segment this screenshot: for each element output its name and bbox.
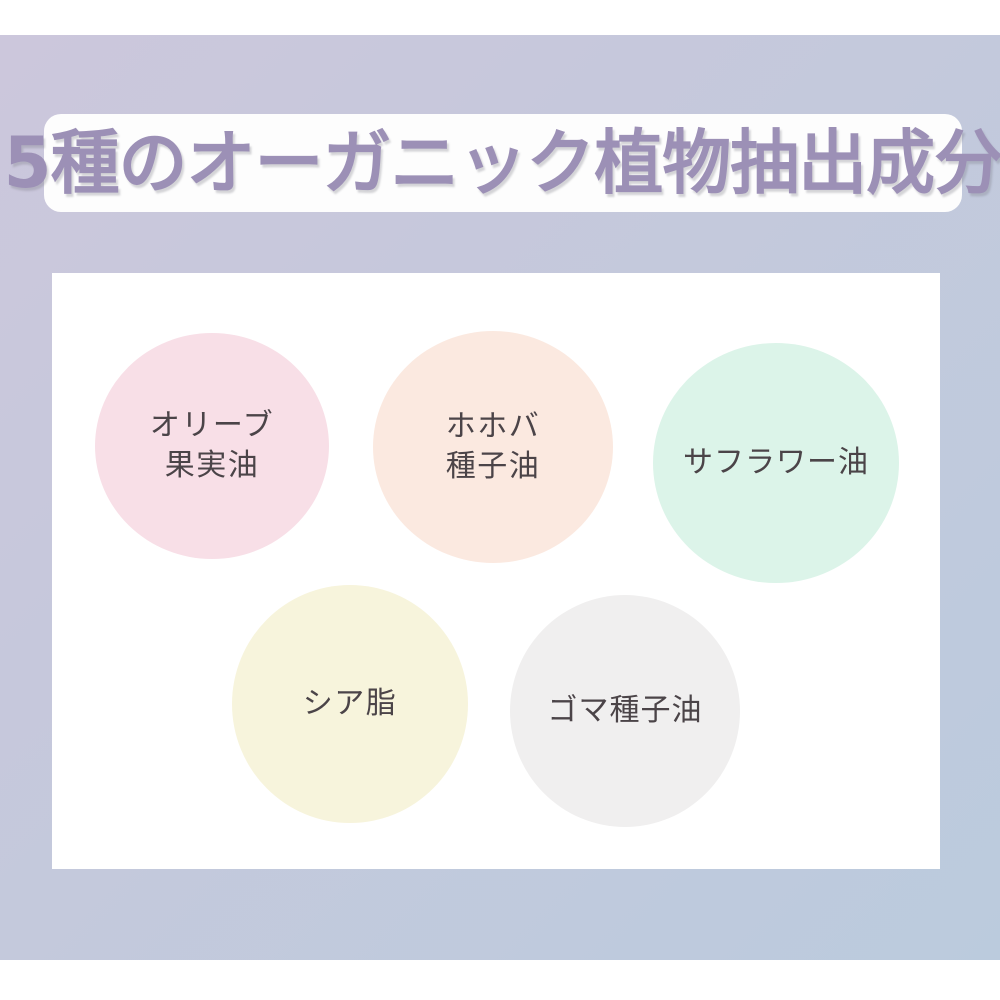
ingredient-bubble-safflower-oil: サフラワー油	[653, 343, 899, 583]
ingredient-bubble-olive-fruit-oil: オリーブ 果実油	[95, 333, 329, 559]
ingredient-bubble-shea-butter: シア脂	[232, 585, 468, 823]
ingredient-bubble-jojoba-seed-oil: ホホバ 種子油	[373, 331, 613, 563]
ingredient-label: ゴマ種子油	[548, 691, 703, 732]
promo-graphic: 5種のオーガニック植物抽出成分 オリーブ 果実油 ホホバ 種子油 サフラワー油 …	[0, 0, 1000, 1000]
title-banner: 5種のオーガニック植物抽出成分	[44, 114, 962, 212]
ingredient-label: オリーブ 果実油	[150, 406, 274, 487]
ingredient-bubble-sesame-seed-oil: ゴマ種子油	[510, 595, 740, 827]
ingredients-card: オリーブ 果実油 ホホバ 種子油 サフラワー油 シア脂 ゴマ種子油	[52, 273, 940, 869]
ingredient-label: サフラワー油	[683, 443, 869, 484]
ingredient-label: シア脂	[303, 684, 398, 725]
page-title: 5種のオーガニック植物抽出成分	[4, 128, 1000, 198]
ingredient-label: ホホバ 種子油	[446, 407, 541, 488]
